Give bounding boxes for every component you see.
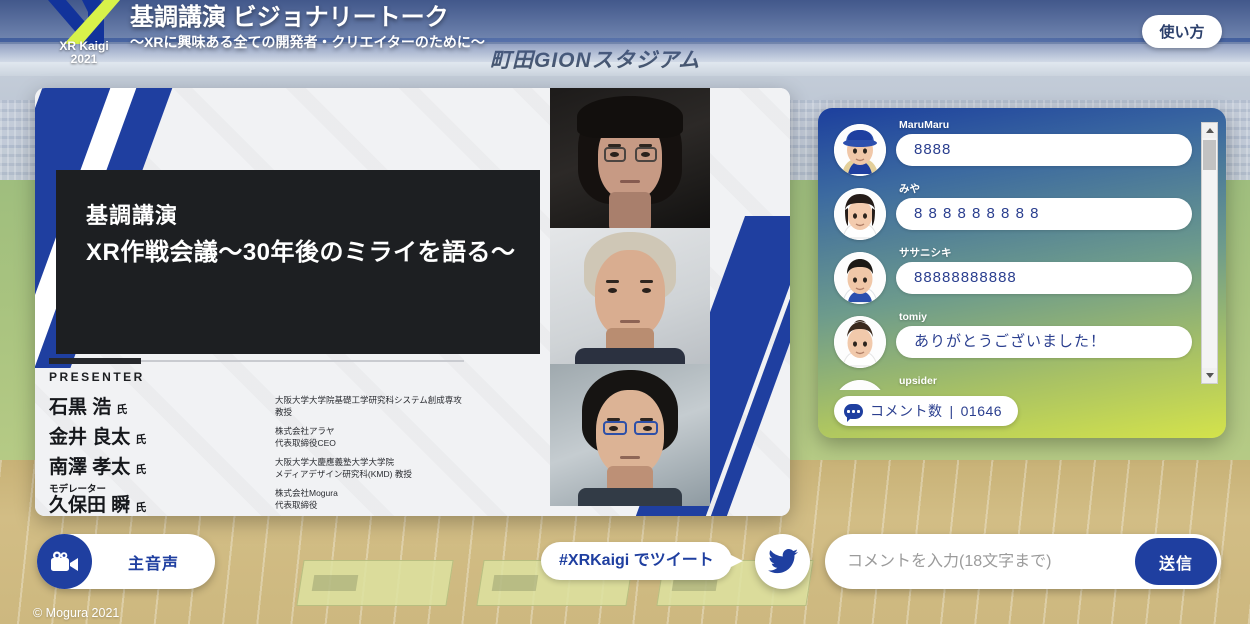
speaker-photo-minamizawa (550, 364, 710, 506)
logo-line-2: 2021 (26, 53, 142, 66)
presenter-divider (49, 360, 464, 362)
presenter-suffix: 氏 (116, 404, 127, 416)
presenter-suffix: 氏 (135, 434, 146, 446)
comment-username: ササニシキ (896, 246, 1192, 260)
presenter-suffix: 氏 (135, 464, 146, 476)
comment-text: 88888888888 (896, 262, 1192, 294)
comment-count-label: コメント数 (870, 401, 943, 421)
presenter-suffix: 氏 (135, 502, 146, 514)
list-item: upsider (834, 374, 1192, 390)
video-slide-panel[interactable]: 基調講演 XR作戦会議〜30年後のミライを語る〜 PRESENTER 石黒 浩氏… (35, 88, 790, 516)
slide-title-line-1: 基調講演 (86, 198, 178, 230)
comment-text: 8 8 8 8 8 8 8 8 8 (896, 198, 1192, 230)
twitter-share-button[interactable] (755, 534, 810, 589)
comment-count-value: 01646 (961, 403, 1002, 419)
presenter-name-text: 石黒 浩 (49, 397, 111, 418)
affiliation-line: 代表取締役 (275, 500, 525, 512)
list-item: MaruMaru 8888 (834, 118, 1192, 172)
affiliation-line: 株式会社Mogura (275, 488, 525, 500)
audio-track-label: 主音声 (92, 550, 215, 574)
affiliation-line: 大阪大学大学院基礎工学研究科システム創成専攻 (275, 395, 525, 407)
field-banner (296, 560, 453, 606)
audio-track-button[interactable]: 主音声 (37, 534, 215, 589)
tweet-label-bubble[interactable]: #XRKaigi でツイート (541, 542, 732, 580)
comment-form[interactable]: 送信 (825, 534, 1221, 589)
presenter-name-1: 石黒 浩氏 (49, 394, 249, 424)
affiliation-1: 大阪大学大学院基礎工学研究科システム創成専攻 教授 (275, 395, 525, 418)
comment-body: tomiy ありがとうございました！ (896, 310, 1192, 358)
comment-body: upsider (896, 374, 1192, 388)
affiliation-line: 大阪大学大慶應義塾大学大学院 (275, 457, 525, 469)
page-title: 基調講演 ビジョナリートーク (130, 3, 485, 32)
affiliation-line: メディアデザイン研究科(KMD) 教授 (275, 469, 525, 481)
presenter-label: PRESENTER (49, 370, 145, 384)
moderator-role-label: モデレーター (49, 484, 249, 495)
list-item: みや 8 8 8 8 8 8 8 8 8 (834, 182, 1192, 236)
affiliation-line: 代表取締役CEO (275, 438, 525, 450)
affiliation-4: 株式会社Mogura 代表取締役 (275, 488, 525, 511)
comment-text: 8888 (896, 134, 1192, 166)
list-item: tomiy ありがとうございました！ (834, 310, 1192, 364)
avatar (834, 380, 886, 390)
avatar (834, 252, 886, 304)
comment-input[interactable] (847, 553, 1135, 571)
comment-body: MaruMaru 8888 (896, 118, 1192, 166)
comment-username: みや (896, 182, 1192, 196)
comment-list[interactable]: MaruMaru 8888 (818, 108, 1226, 390)
slide-title-box: 基調講演 XR作戦会議〜30年後のミライを語る〜 (56, 170, 540, 354)
comment-bubble-icon (844, 404, 863, 419)
speaker-photo-strip (550, 88, 710, 516)
presenter-list: 石黒 浩氏 金井 良太氏 南澤 孝太氏 モデレーター 久保田 瞬氏 (49, 394, 249, 516)
xr-kaigi-logo[interactable]: XR Kaigi 2021 (26, 0, 142, 72)
title-block: 基調講演 ビジョナリートーク 〜XRに興味ある全ての開発者・クリエイターのために… (130, 3, 485, 52)
comment-count-badge: コメント数 | 01646 (834, 396, 1018, 426)
affiliation-3: 大阪大学大慶應義塾大学大学院 メディアデザイン研究科(KMD) 教授 (275, 457, 525, 480)
comment-panel: MaruMaru 8888 (818, 108, 1226, 438)
avatar (834, 188, 886, 240)
affiliation-line: 株式会社アラヤ (275, 426, 525, 438)
comment-body: ササニシキ 88888888888 (896, 246, 1192, 294)
logo-text: XR Kaigi 2021 (26, 40, 142, 66)
affiliation-list: 大阪大学大学院基礎工学研究科システム創成専攻 教授 株式会社アラヤ 代表取締役C… (275, 395, 525, 511)
comment-text: ありがとうございました！ (896, 326, 1192, 358)
comment-username: upsider (896, 374, 1192, 388)
send-button[interactable]: 送信 (1135, 538, 1217, 585)
scroll-up-icon[interactable] (1202, 123, 1217, 138)
presenter-name-3: 南澤 孝太氏 (49, 454, 249, 484)
twitter-bird-icon (768, 549, 798, 574)
affiliation-line: 教授 (275, 407, 525, 419)
app-header: XR Kaigi 2021 基調講演 ビジョナリートーク 〜XRに興味ある全ての… (0, 0, 1250, 62)
comment-count-separator: | (950, 403, 954, 419)
page-subtitle: 〜XRに興味ある全ての開発者・クリエイターのために〜 (130, 32, 485, 52)
comment-username: tomiy (896, 310, 1192, 324)
affiliation-2: 株式会社アラヤ 代表取締役CEO (275, 426, 525, 449)
app-stage: 町田GIONスタジアム XR Kaigi 2021 基調講演 ビジョナリートーク… (0, 0, 1250, 624)
speaker-photo-kanai (550, 228, 710, 370)
avatar (834, 124, 886, 176)
comment-body: みや 8 8 8 8 8 8 8 8 8 (896, 182, 1192, 230)
video-camera-icon (37, 534, 92, 589)
scroll-down-icon[interactable] (1202, 368, 1217, 383)
presenter-name-text: 南澤 孝太 (49, 457, 130, 478)
presenter-name-2: 金井 良太氏 (49, 424, 249, 454)
comment-scrollbar[interactable] (1201, 122, 1218, 384)
copyright-text: © Mogura 2021 (33, 606, 119, 620)
presenter-name-text: 金井 良太 (49, 427, 130, 448)
presenter-name-text: 久保田 瞬 (49, 495, 130, 516)
comment-username: MaruMaru (896, 118, 1192, 132)
list-item: ササニシキ 88888888888 (834, 246, 1192, 300)
howto-button[interactable]: 使い方 (1142, 15, 1222, 48)
slide-title-line-2: XR作戦会議〜30年後のミライを語る〜 (86, 232, 516, 267)
speaker-photo-ishiguro (550, 88, 710, 230)
avatar (834, 316, 886, 368)
scrollbar-thumb[interactable] (1203, 140, 1216, 170)
presenter-name-4: 久保田 瞬氏 (49, 495, 249, 516)
